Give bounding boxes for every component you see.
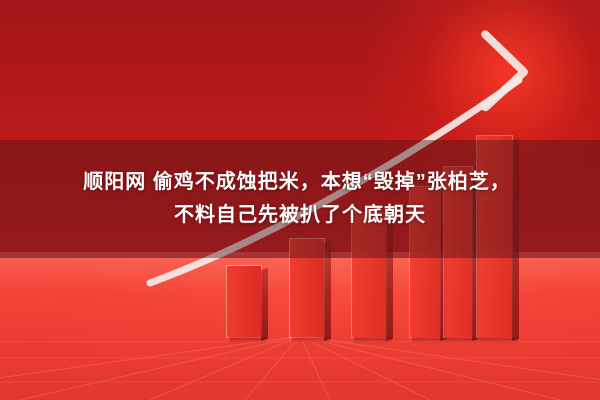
bar-shadow xyxy=(229,337,267,344)
headline-line-1: 顺阳网 偷鸡不成蚀把米，本想“毁掉”张柏芝， xyxy=(83,169,517,196)
headline-line-2: 不料自己先被扒了个底朝天 xyxy=(174,202,426,229)
bar-shadow xyxy=(292,337,330,344)
bar-shadow xyxy=(354,337,392,344)
bar-face xyxy=(227,266,261,337)
bar-1 xyxy=(226,265,262,338)
bar-shadow xyxy=(446,337,478,344)
banner-canvas: 顺阳网 偷鸡不成蚀把米，本想“毁掉”张柏芝， 不料自己先被扒了个底朝天 xyxy=(0,0,600,400)
bar-shadow xyxy=(412,337,446,344)
headline: 顺阳网 偷鸡不成蚀把米，本想“毁掉”张柏芝， 不料自己先被扒了个底朝天 xyxy=(0,140,600,258)
bar-shadow xyxy=(479,337,518,344)
bar-side xyxy=(261,268,268,341)
